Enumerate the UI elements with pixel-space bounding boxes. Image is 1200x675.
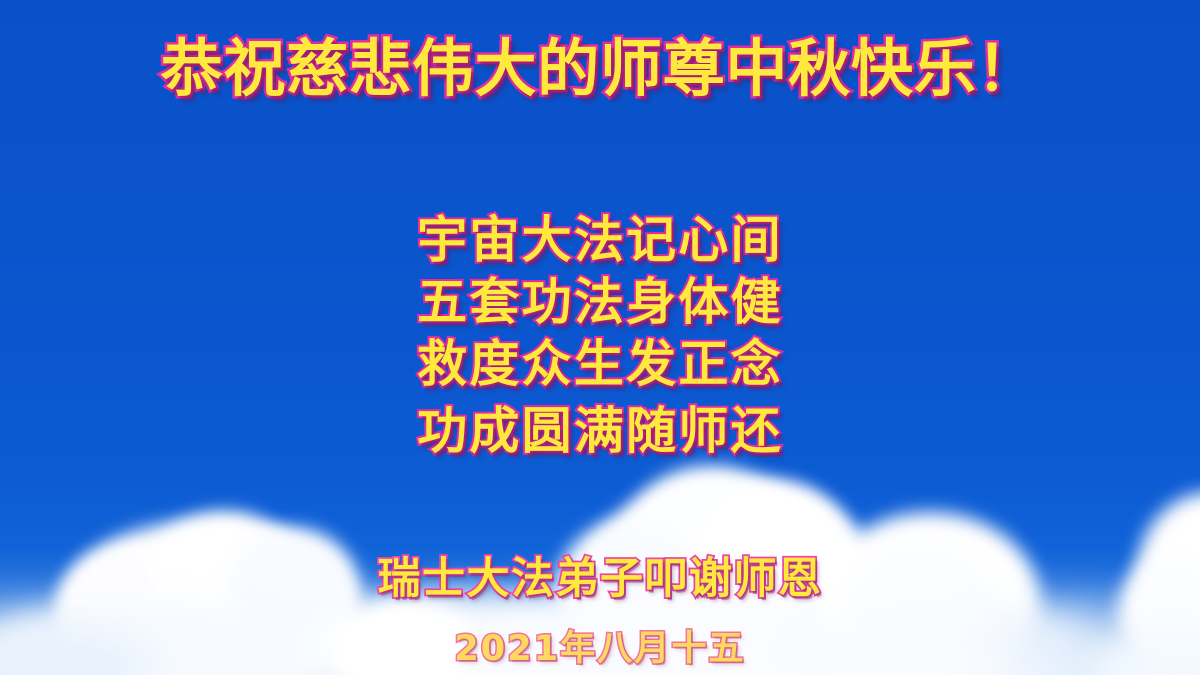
text-overlay: 恭祝慈悲伟大的师尊中秋快乐！ 宇宙大法记心间 五套功法身体健 救度众生发正念 功… — [0, 0, 1200, 675]
greeting-card-image: 恭祝慈悲伟大的师尊中秋快乐！ 宇宙大法记心间 五套功法身体健 救度众生发正念 功… — [0, 0, 1200, 675]
date-line: 2021年八月十五 — [0, 620, 1200, 671]
signature-line: 瑞士大法弟子叩谢师恩 — [0, 544, 1200, 606]
greeting-title: 恭祝慈悲伟大的师尊中秋快乐！ — [0, 36, 1200, 101]
poem-line-3: 救度众生发正念 — [0, 324, 1200, 396]
poem-line-4: 功成圆满随师还 — [0, 391, 1200, 463]
